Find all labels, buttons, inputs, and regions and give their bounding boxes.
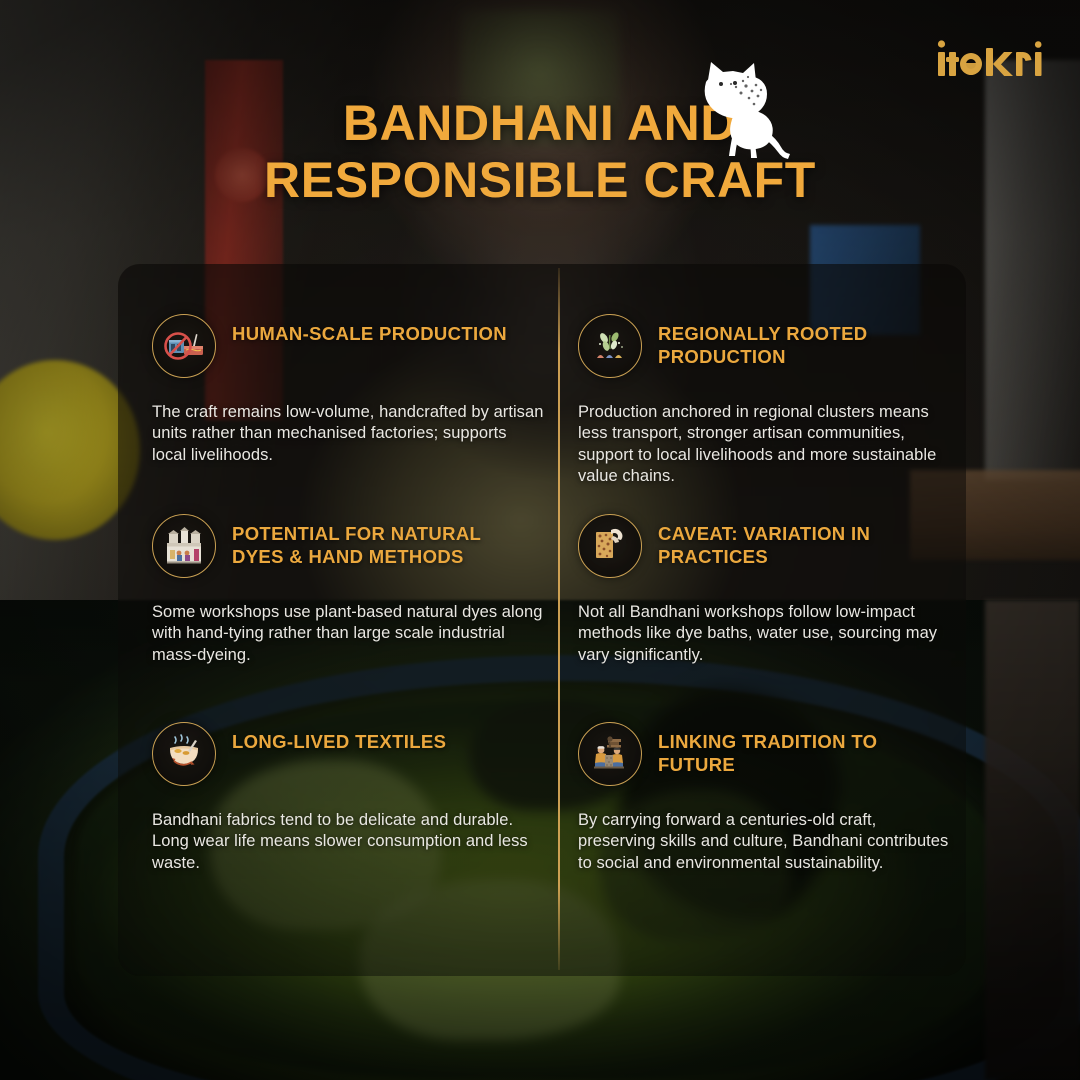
artisan-workshop-building-icon xyxy=(152,514,216,578)
card-body: Not all Bandhani workshops follow low-im… xyxy=(578,602,952,666)
card-header: REGIONALLY ROOTED PRODUCTION xyxy=(578,314,952,378)
title-line-2: RESPONSIBLE CRAFT xyxy=(0,152,1080,209)
card-title: LINKING TRADITION TO FUTURE xyxy=(658,731,920,777)
feature-card-caveat-variation-in-practices: CAVEAT: VARIATION IN PRACTICES Not all B… xyxy=(558,464,966,672)
feature-card-linking-tradition-to-future: LINKING TRADITION TO FUTURE By carrying … xyxy=(558,672,966,976)
card-header: POTENTIAL FOR NATURAL DYES & HAND METHOD… xyxy=(152,514,546,578)
card-title: LONG-LIVED TEXTILES xyxy=(232,731,446,754)
no-factory-icon xyxy=(152,314,216,378)
card-title: REGIONALLY ROOTED PRODUCTION xyxy=(658,323,920,369)
hand-holding-bandhani-fabric-icon xyxy=(578,514,642,578)
poster-title: BANDHANI AND RESPONSIBLE CRAFT xyxy=(0,95,1080,209)
itokri-logo[interactable] xyxy=(936,38,1044,84)
card-body: Some workshops use plant-based natural d… xyxy=(152,602,544,666)
card-header: LONG-LIVED TEXTILES xyxy=(152,722,546,786)
card-title: HUMAN-SCALE PRODUCTION xyxy=(232,323,507,346)
feature-grid: HUMAN-SCALE PRODUCTION The craft remains… xyxy=(118,264,966,976)
card-header: LINKING TRADITION TO FUTURE xyxy=(578,722,952,786)
feature-card-long-lived-textiles: LONG-LIVED TEXTILES Bandhani fabrics ten… xyxy=(118,672,558,976)
steaming-dye-pot-icon xyxy=(152,722,216,786)
feature-card-regionally-rooted-production: REGIONALLY ROOTED PRODUCTION Production … xyxy=(558,264,966,464)
title-line-1: BANDHANI AND xyxy=(0,95,1080,152)
card-body: The craft remains low-volume, handcrafte… xyxy=(152,402,544,466)
card-body: Bandhani fabrics tend to be delicate and… xyxy=(152,810,544,874)
card-header: CAVEAT: VARIATION IN PRACTICES xyxy=(578,514,952,578)
infographic-poster: BANDHANI AND RESPONSIBLE CRAFT xyxy=(0,0,1080,1080)
card-header: HUMAN-SCALE PRODUCTION xyxy=(152,314,546,378)
card-title: CAVEAT: VARIATION IN PRACTICES xyxy=(658,523,920,569)
feature-card-natural-dyes-hand-methods: POTENTIAL FOR NATURAL DYES & HAND METHOD… xyxy=(118,464,558,672)
card-title: POTENTIAL FOR NATURAL DYES & HAND METHOD… xyxy=(232,523,512,569)
natural-dye-leaves-icon xyxy=(578,314,642,378)
two-artisans-icon xyxy=(578,722,642,786)
card-body: By carrying forward a centuries-old craf… xyxy=(578,810,952,874)
feature-card-human-scale-production: HUMAN-SCALE PRODUCTION The craft remains… xyxy=(118,264,558,464)
